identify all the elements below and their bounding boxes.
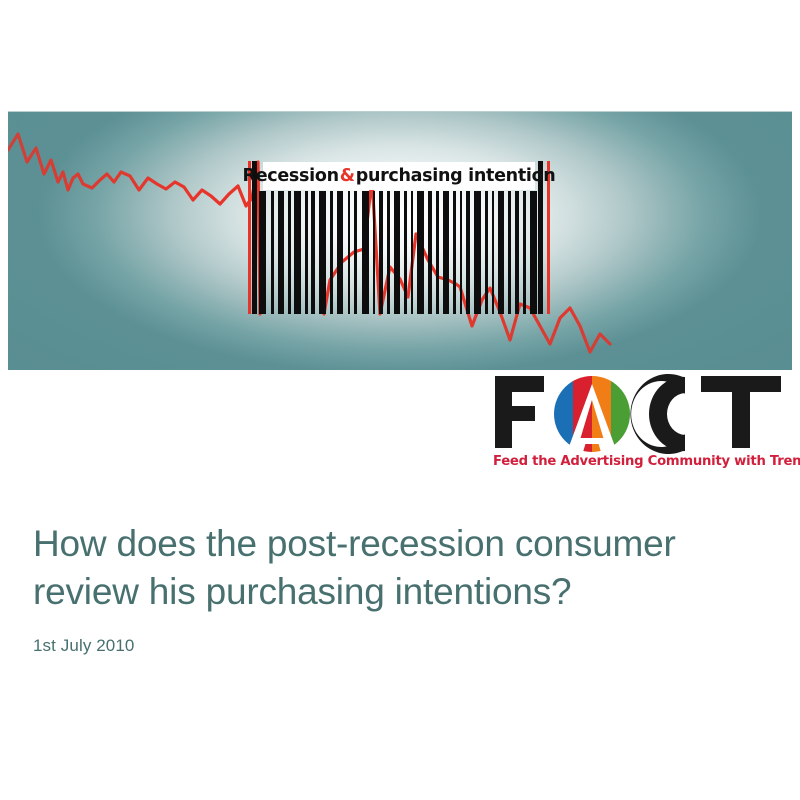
- title-block: How does the post-recession consumer rev…: [33, 520, 763, 656]
- logo-letter-c: [630, 374, 685, 454]
- page-title-line-2: review his purchasing intentions?: [33, 571, 571, 612]
- barcode-label-ampersand: &: [339, 166, 356, 186]
- logo-letter-t: [701, 376, 781, 448]
- page-title: How does the post-recession consumer rev…: [33, 520, 763, 616]
- fact-wordmark: [489, 370, 795, 454]
- page-title-line-1: How does the post-recession consumer: [33, 523, 676, 564]
- fact-tagline: Feed the Advertising Community with Tren…: [493, 454, 793, 469]
- barcode-graphic: Recession & purchasing intention: [244, 161, 556, 314]
- barcode-label-suffix: purchasing intention: [356, 166, 556, 186]
- barcode-label-prefix: Recession: [243, 166, 339, 186]
- fact-logo: Feed the Advertising Community with Tren…: [489, 370, 795, 480]
- barcode-label: Recession & purchasing intention: [263, 162, 535, 190]
- barcode-bars: [259, 191, 537, 314]
- banner: Recession & purchasing intention: [8, 111, 792, 370]
- trend-line-left: [8, 134, 260, 314]
- emblem-crossbar: [575, 438, 609, 444]
- logo-letter-f: [495, 376, 544, 448]
- presentation-date: 1st July 2010: [33, 636, 763, 656]
- fact-circle-a-emblem: [554, 376, 630, 452]
